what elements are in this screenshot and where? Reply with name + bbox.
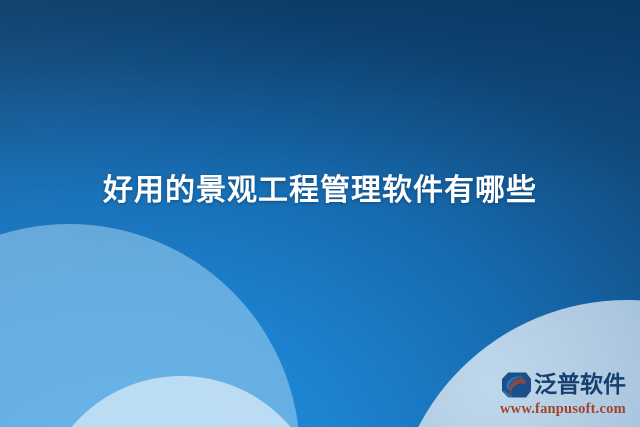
banner-graphic: 好用的景观工程管理软件有哪些 泛普软件 www.fanpusoft.com — [0, 0, 640, 427]
fanpu-logo-mark-icon — [500, 371, 532, 399]
brand-name: 泛普软件 — [534, 371, 626, 399]
brand-logo: 泛普软件 www.fanpusoft.com — [500, 370, 640, 422]
brand-website-url: www.fanpusoft.com — [500, 401, 640, 417]
banner-headline: 好用的景观工程管理软件有哪些 — [0, 170, 640, 212]
top-shade-overlay — [0, 0, 640, 190]
brand-logo-row: 泛普软件 — [500, 370, 640, 400]
